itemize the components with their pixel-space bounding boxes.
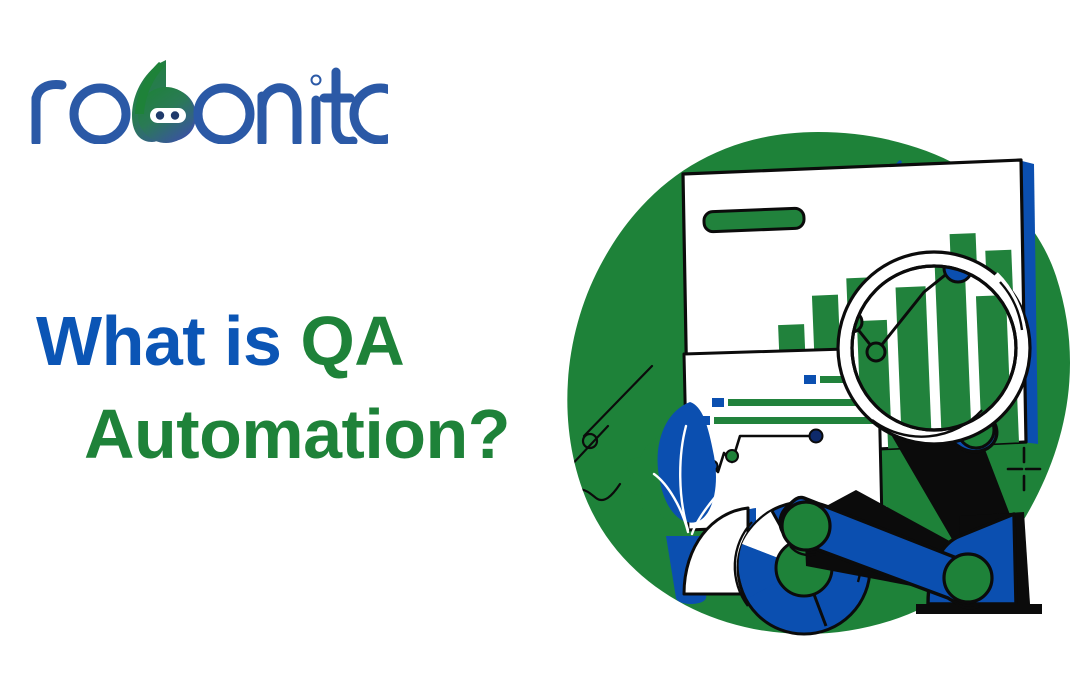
logo-letter-t — [324, 72, 353, 141]
page-title: What is QA Automation? — [36, 295, 576, 481]
title-segment-automation: Automation? — [84, 395, 510, 473]
page-canvas: robonito — [0, 0, 1080, 700]
logo-letter-r — [36, 85, 62, 142]
title-segment-what-is: What is — [36, 302, 300, 380]
robonito-ninja-mascot-icon — [132, 60, 196, 143]
logo-letter-i — [315, 79, 317, 142]
toolbar-pill[interactable] — [704, 208, 805, 232]
logo-letter-o2 — [198, 88, 250, 140]
title-segment-qa: QA — [300, 302, 404, 380]
logo-letter-o3 — [354, 88, 388, 140]
page-title-line-1: What is QA — [36, 295, 576, 388]
qa-automation-illustration — [556, 126, 1080, 656]
page-title-line-2: Automation? — [36, 388, 576, 481]
logo-letter-o — [74, 88, 126, 140]
brand-logo[interactable]: robonito — [28, 58, 388, 144]
logo-letter-n — [262, 88, 297, 142]
